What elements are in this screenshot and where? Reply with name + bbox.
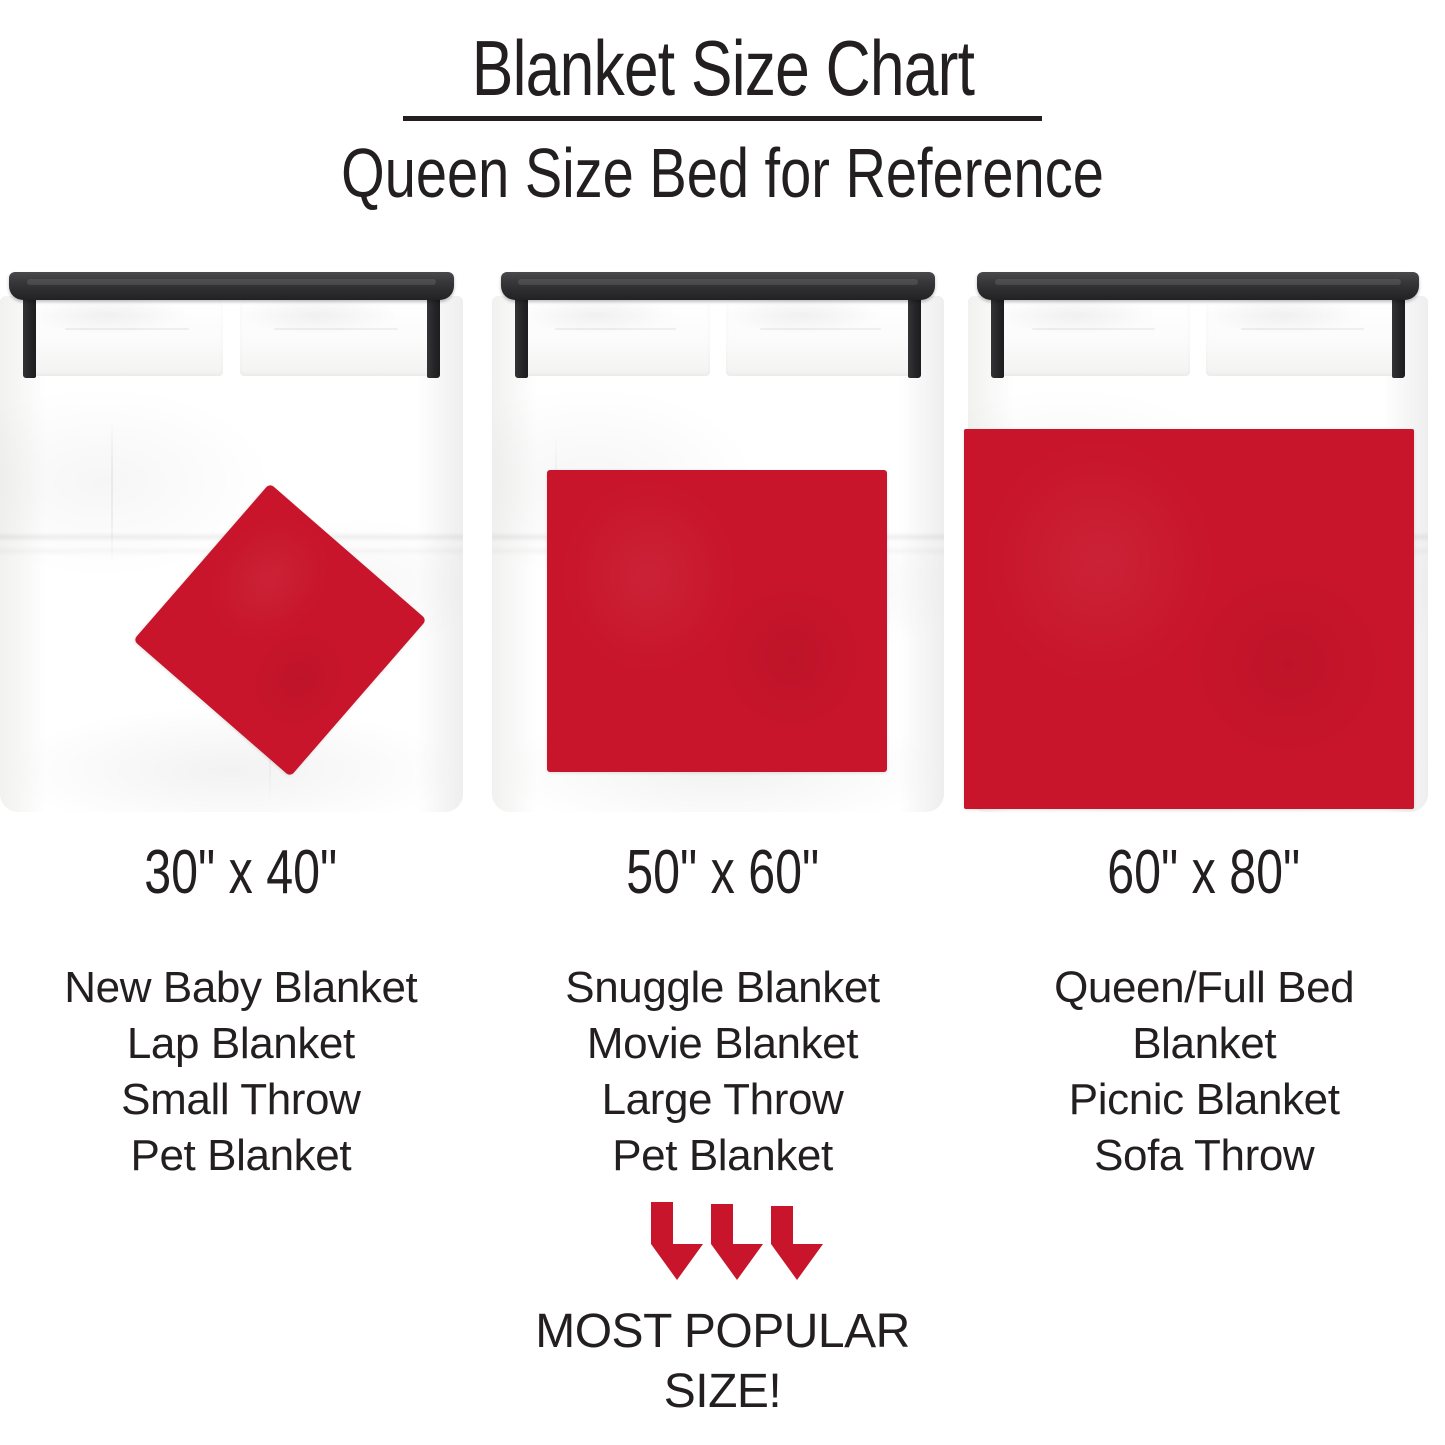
bed-post-right-icon (1392, 296, 1405, 378)
bed-illustration-large (968, 272, 1428, 812)
page-header: Blanket Size Chart (0, 0, 1445, 121)
pillow-right (1206, 298, 1398, 376)
use-case-col-3: Queen/Full Bed Blanket Picnic Blanket So… (963, 960, 1445, 1184)
use-case-item: Picnic Blanket (963, 1072, 1445, 1128)
pillow-right (726, 298, 915, 376)
bed-post-left-icon (515, 296, 528, 378)
size-label-large: 60" x 80" (1108, 842, 1301, 904)
size-label-small: 30" x 40" (144, 842, 337, 904)
bed-illustration-small (0, 272, 463, 812)
most-popular-line-1: MOST POPULAR (0, 1302, 1445, 1362)
red-blanket-60x80 (964, 429, 1414, 809)
arrow-shaft (711, 1204, 733, 1244)
most-popular-line-2: SIZE! (0, 1362, 1445, 1422)
arrow-shaft (651, 1202, 673, 1244)
blanket-sheen (547, 470, 887, 772)
bed-post-right-icon (908, 296, 921, 378)
arrow-shaft (771, 1206, 793, 1244)
down-arrows-group (633, 1202, 813, 1284)
arrow-down-icon (711, 1204, 733, 1280)
use-case-col-2: Snuggle Blanket Movie Blanket Large Thro… (482, 960, 964, 1184)
size-label-row: 30" x 40" 50" x 60" 60" x 80" (0, 842, 1445, 904)
size-label-col-1: 30" x 40" (0, 842, 482, 904)
page-title: Blanket Size Chart (471, 0, 973, 110)
bed-illustration-medium (492, 272, 944, 812)
pillow-left (998, 298, 1190, 376)
use-case-item: New Baby Blanket (0, 960, 482, 1016)
pillows (30, 298, 433, 376)
use-case-item: Small Throw (0, 1072, 482, 1128)
pillows (998, 298, 1398, 376)
use-case-row: New Baby Blanket Lap Blanket Small Throw… (0, 960, 1445, 1184)
arrow-down-icon (771, 1206, 793, 1280)
use-case-item: Large Throw (482, 1072, 964, 1128)
bed-post-left-icon (991, 296, 1004, 378)
red-blanket-50x60 (547, 470, 887, 772)
blanket-sheen (964, 429, 1414, 809)
headboard-icon (977, 272, 1419, 300)
bed-post-left-icon (23, 296, 36, 378)
use-case-item: Lap Blanket (0, 1016, 482, 1072)
page-title-underline: Blanket Size Chart (403, 0, 1043, 121)
use-case-item: Pet Blanket (482, 1128, 964, 1184)
pillow-right (240, 298, 433, 376)
arrow-head (771, 1244, 823, 1280)
arrow-head (711, 1244, 763, 1280)
bed-post-right-icon (427, 296, 440, 378)
size-label-col-2: 50" x 60" (482, 842, 964, 904)
use-case-item: Sofa Throw (963, 1128, 1445, 1184)
pillow-left (521, 298, 710, 376)
size-label-col-3: 60" x 80" (963, 842, 1445, 904)
use-case-item: Movie Blanket (482, 1016, 964, 1072)
most-popular-callout: MOST POPULAR SIZE! (0, 1202, 1445, 1422)
size-label-medium: 50" x 60" (626, 842, 819, 904)
pillow-left (30, 298, 223, 376)
headboard-icon (9, 272, 453, 300)
use-case-item: Snuggle Blanket (482, 960, 964, 1016)
use-case-col-1: New Baby Blanket Lap Blanket Small Throw… (0, 960, 482, 1184)
use-case-item: Blanket (963, 1016, 1445, 1072)
page-subtitle: Queen Size Bed for Reference (145, 121, 1301, 211)
arrow-head (651, 1244, 703, 1280)
use-case-item: Pet Blanket (0, 1128, 482, 1184)
use-case-item: Queen/Full Bed (963, 960, 1445, 1016)
duvet-crease (111, 416, 113, 566)
headboard-icon (501, 272, 935, 300)
pillows (521, 298, 914, 376)
most-popular-text: MOST POPULAR SIZE! (0, 1302, 1445, 1422)
arrow-down-icon (651, 1202, 673, 1280)
bed-comparison-row (0, 272, 1445, 817)
